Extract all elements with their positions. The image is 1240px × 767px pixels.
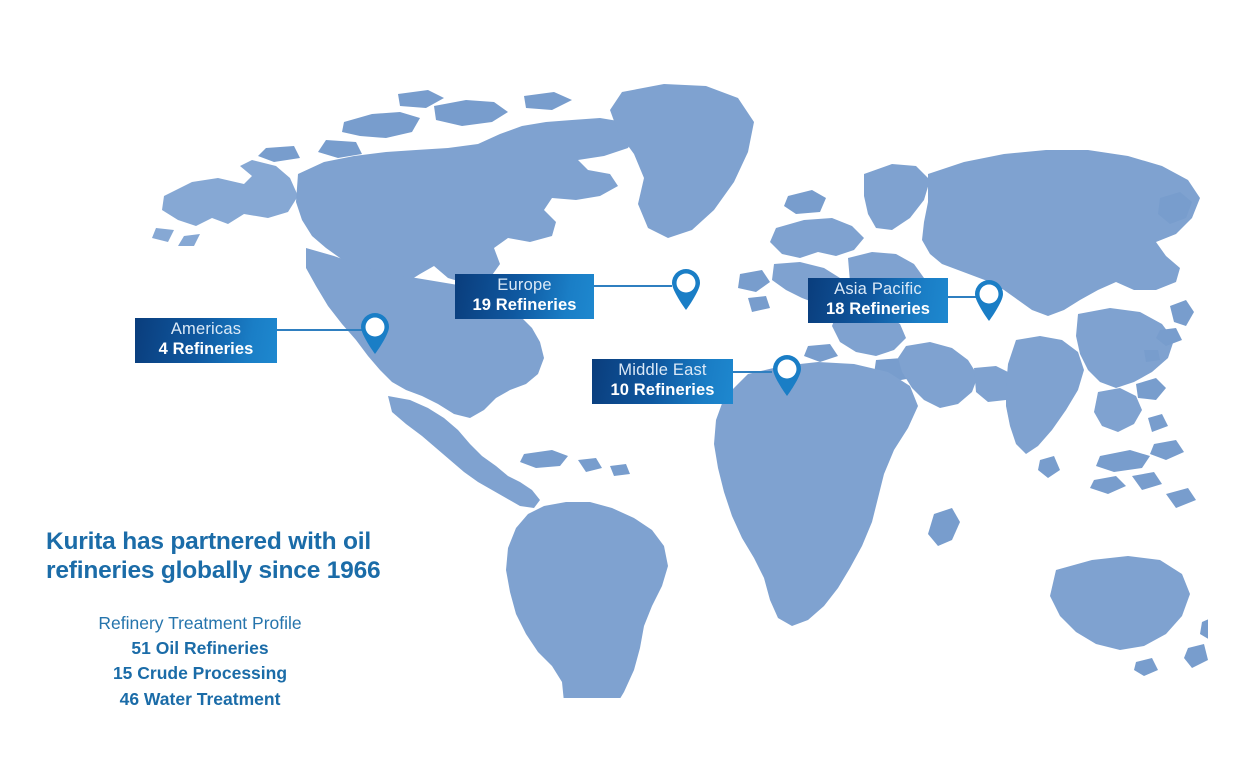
map-pin-icon-middle-east[interactable] xyxy=(770,353,804,397)
callout-box-americas[interactable]: Americas 4 Refineries xyxy=(135,318,277,363)
map-pin-icon-americas[interactable] xyxy=(358,311,392,355)
profile-stat-oil-refineries: 51 Oil Refineries xyxy=(50,636,350,661)
callout-count-label: 19 Refineries xyxy=(472,296,576,315)
connector-line-europe xyxy=(594,285,672,287)
callout-region-label: Asia Pacific xyxy=(834,280,922,299)
callout-region-label: Americas xyxy=(171,320,241,339)
connector-line-middle-east xyxy=(733,371,772,373)
callout-count-label: 10 Refineries xyxy=(610,381,714,400)
headline-line-2: refineries globally since 1966 xyxy=(46,557,386,586)
callout-count-label: 4 Refineries xyxy=(159,340,254,359)
map-pin-icon-europe[interactable] xyxy=(669,267,703,311)
headline-line-1: Kurita has partnered with oil xyxy=(46,528,386,557)
profile-title: Refinery Treatment Profile xyxy=(50,610,350,636)
callout-region-label: Europe xyxy=(497,276,551,295)
callout-box-middle-east[interactable]: Middle East 10 Refineries xyxy=(592,359,733,404)
callout-box-asia-pacific[interactable]: Asia Pacific 18 Refineries xyxy=(808,278,948,323)
map-pin-icon-asia-pacific[interactable] xyxy=(972,278,1006,322)
profile-stat-crude-processing: 15 Crude Processing xyxy=(50,661,350,686)
summary-text-block: Kurita has partnered with oil refineries… xyxy=(46,528,386,712)
callout-count-label: 18 Refineries xyxy=(826,300,930,319)
profile-stat-water-treatment: 46 Water Treatment xyxy=(50,687,350,712)
callout-region-label: Middle East xyxy=(618,361,706,380)
callout-box-europe[interactable]: Europe 19 Refineries xyxy=(455,274,594,319)
refinery-treatment-profile: Refinery Treatment Profile 51 Oil Refine… xyxy=(50,610,350,712)
world-map-infographic: Americas 4 Refineries Europe 19 Refineri… xyxy=(0,0,1240,767)
page-title: Kurita has partnered with oil refineries… xyxy=(46,528,386,586)
